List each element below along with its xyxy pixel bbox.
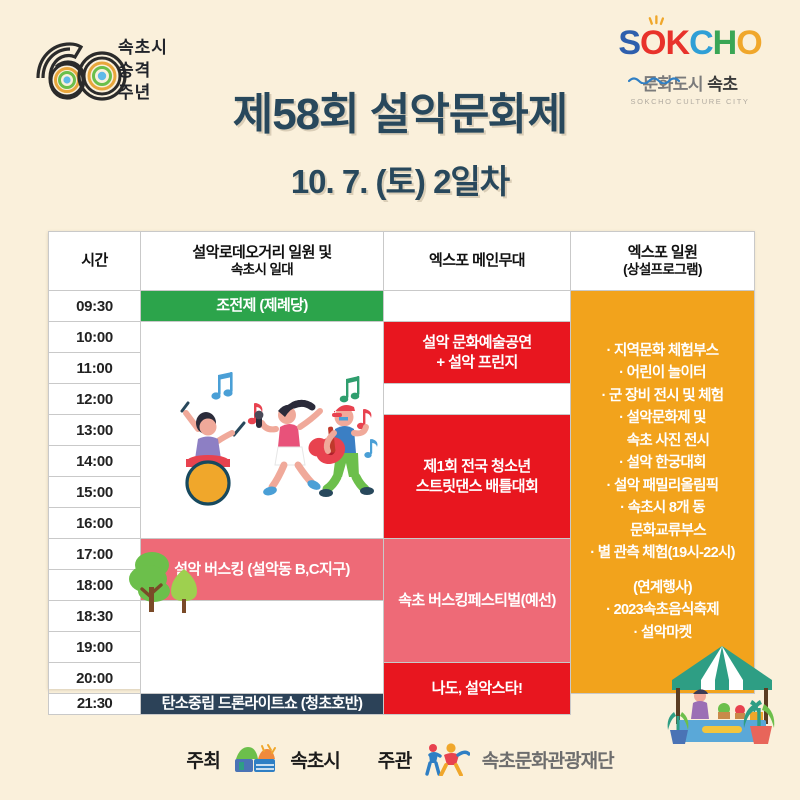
list-item: · 속초시 8개 동 [571, 497, 754, 519]
time-cell: 18:30 [49, 601, 141, 632]
anniversary-line-1: 속초시 [118, 37, 210, 59]
list-item: · 군 장비 전시 및 체험 [571, 385, 754, 407]
list-item: · 설악문화제 및 [571, 407, 754, 429]
time-cell: 12:00 [49, 384, 141, 415]
list-item-label: 문화교류부스 [630, 523, 706, 539]
host-label: 주최 [186, 746, 220, 773]
logo-letter-h: H [713, 24, 737, 62]
event-drone-light-show-time: 21:30 [49, 694, 141, 715]
list-spacer [571, 565, 754, 577]
list-item-label: 별 관측 체험(19시-22시) [598, 545, 735, 561]
list-item-label: 지역문화 체험부스 [614, 343, 718, 359]
time-cell: 15:00 [49, 477, 141, 508]
list-item: · 어린이 놀이터 [571, 362, 754, 384]
list-item: · 별 관측 체험(19시-22시) [571, 542, 754, 564]
event-line-1: 제1회 전국 청소년 [384, 457, 570, 477]
column-header-time: 시간 [49, 232, 141, 291]
time-cell: 14:00 [49, 446, 141, 477]
sokcho-wordmark: SOKCHO [618, 26, 761, 60]
column-header-rodeo-street-line2: 속초시 일대 [141, 262, 383, 278]
list-item-continuation: 속초 사진 전시 [571, 430, 754, 452]
table-header-row: 시간 설악로데오거리 일원 및 속초시 일대 엑스포 메인무대 엑스포 일원 (… [49, 232, 755, 291]
logo-letter-c: C [689, 24, 713, 62]
time-cell: 18:00 [49, 570, 141, 601]
linked-events-heading: (연계행사) [571, 577, 754, 599]
schedule-table-container: 시간 설악로데오거리 일원 및 속초시 일대 엑스포 메인무대 엑스포 일원 (… [48, 231, 754, 689]
empty-cell [384, 291, 571, 322]
list-item-label: 속초시 8개 동 [628, 500, 705, 516]
sokcho-city-emblem-icon [232, 743, 278, 775]
column-header-time-label: 시간 [81, 252, 107, 269]
logo-letter-k: K [666, 24, 690, 62]
logo-letter-o1: O [640, 24, 665, 62]
column-header-expo-main-stage: 엑스포 메인무대 [384, 232, 571, 291]
event-seorak-busking: 설악 버스킹 (설악동 B,C지구) [141, 539, 384, 601]
event-jojeonje: 조전제 (제례당) [141, 291, 384, 322]
list-item-label: 군 장비 전시 및 체험 [609, 388, 723, 404]
permanent-programs-list: · 지역문화 체험부스 · 어린이 놀이터 · 군 장비 전시 및 체험 · 설… [571, 340, 754, 644]
host-name: 속초시 [290, 746, 339, 773]
page-subtitle: 10. 7. (토) 2일차 [0, 155, 800, 203]
trees-illustration-cell [141, 601, 384, 694]
event-street-dance-battle: 제1회 전국 청소년 스트릿댄스 배틀대회 [384, 415, 571, 539]
time-cell: 19:00 [49, 632, 141, 663]
time-cell: 17:00 [49, 539, 141, 570]
band-illustration-cell [141, 322, 384, 539]
event-seorak-star: 나도, 설악스타! [384, 663, 571, 715]
time-cell: 10:00 [49, 322, 141, 353]
column-header-expo-area-line1: 엑스포 일원 [628, 244, 698, 261]
stall-post-right [764, 688, 768, 724]
list-item-label: 2023속초음식축제 [614, 602, 719, 618]
list-item-label: 설악 한궁대회 [627, 455, 706, 471]
time-cell: 09:30 [49, 291, 141, 322]
stall-sign [702, 726, 742, 733]
empty-cell [384, 384, 571, 415]
list-item-label: 어린이 놀이터 [627, 365, 706, 381]
permanent-programs-cell: · 지역문화 체험부스 · 어린이 놀이터 · 군 장비 전시 및 체험 · 설… [571, 291, 755, 694]
list-item: · 2023속초음식축제 [571, 599, 754, 621]
column-header-rodeo-street: 설악로데오거리 일원 및 속초시 일대 [141, 232, 384, 291]
column-header-expo-area: 엑스포 일원 (상설프로그램) [571, 232, 755, 291]
page-title: 제58회 설악문화제 [0, 78, 800, 142]
event-line-2: + 설악 프린지 [384, 353, 570, 373]
column-header-expo-area-line2: (상설프로그램) [571, 262, 754, 278]
poster: 속초시 승격 주년 SOKCHO 문화도시 속초 SOKCHO CULTURE … [0, 0, 800, 800]
list-item: · 설악 한궁대회 [571, 452, 754, 474]
organizer-name: 속초문화관광재단 [482, 746, 614, 773]
logo-letter-s: S [618, 24, 640, 62]
column-header-expo-main-stage-label: 엑스포 메인무대 [429, 252, 525, 269]
table-row: 09:30 조전제 (제례당) · 지역문화 체험부스 · 어린이 놀이터 · … [49, 291, 755, 322]
sokcho-culture-tourism-foundation-logo-icon [424, 742, 470, 776]
footer: 주최 속초시 주관 속초문화관광재단 [0, 735, 800, 783]
event-busking-festival: 속초 버스킹페스티벌(예선) [384, 539, 571, 663]
time-cell: 20:00 [49, 663, 141, 694]
list-item: · 지역문화 체험부스 [571, 340, 754, 362]
event-line-1: 설악 문화예술공연 [384, 333, 570, 353]
time-cell: 16:00 [49, 508, 141, 539]
schedule-table: 시간 설악로데오거리 일원 및 속초시 일대 엑스포 메인무대 엑스포 일원 (… [48, 231, 755, 715]
event-drone-light-show: 탄소중립 드론라이트쇼 (청초호반) [141, 694, 384, 715]
list-item-label: 설악 패밀리올림픽 [614, 478, 718, 494]
event-seorak-art-performance: 설악 문화예술공연 + 설악 프린지 [384, 322, 571, 384]
list-item-label: 설악문화제 및 [627, 410, 706, 426]
time-cell: 13:00 [49, 415, 141, 446]
time-cell: 11:00 [49, 353, 141, 384]
list-item: · 설악 패밀리올림픽 [571, 475, 754, 497]
event-line-2: 스트릿댄스 배틀대회 [384, 477, 570, 497]
column-header-rodeo-street-line1: 설악로데오거리 일원 및 [192, 244, 331, 261]
sun-rays-icon [648, 15, 666, 28]
list-item: · 설악마켓 [571, 622, 754, 644]
list-item-continuation: 문화교류부스 [571, 520, 754, 542]
list-item-label: 설악마켓 [641, 625, 692, 641]
logo-letter-o2: O [736, 24, 761, 62]
list-item-label: 속초 사진 전시 [627, 433, 710, 449]
organizer-label: 주관 [378, 746, 412, 773]
